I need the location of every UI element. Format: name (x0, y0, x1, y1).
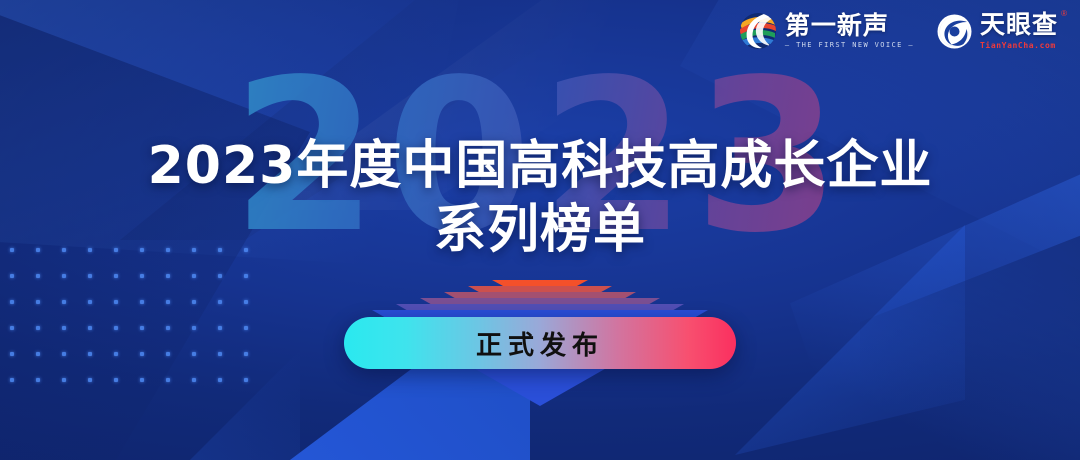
grid-dot (218, 326, 222, 330)
grid-dot (218, 378, 222, 382)
grid-dot (166, 378, 170, 382)
grid-dot (218, 274, 222, 278)
grid-dot (62, 274, 66, 278)
tianyancha-cn-wrap: 天眼查 ® (980, 12, 1058, 38)
grid-dot (218, 352, 222, 356)
logo-tianyancha[interactable]: 天眼查 ® TianYanCha.com (936, 12, 1058, 50)
grid-dot (140, 378, 144, 382)
grid-dot (140, 300, 144, 304)
release-button[interactable]: 正式发布 (344, 317, 736, 369)
grid-dot (10, 352, 14, 356)
grid-dot (114, 326, 118, 330)
grid-dot (114, 300, 118, 304)
grid-dot (114, 274, 118, 278)
grid-dot (62, 326, 66, 330)
first-new-voice-cn: 第一新声 (785, 13, 914, 38)
grid-dot (62, 378, 66, 382)
registered-trademark-icon: ® (1061, 10, 1067, 18)
grid-dot (10, 378, 14, 382)
page-title-line-2: 系列榜单 (0, 200, 1080, 260)
grid-dot (114, 352, 118, 356)
grid-dot (10, 326, 14, 330)
page-title: 2023年度中国高科技高成长企业 系列榜单 (0, 136, 1080, 261)
tianyancha-cn: 天眼查 (980, 10, 1058, 39)
grid-dot (88, 326, 92, 330)
grid-dot (36, 352, 40, 356)
grid-dot (166, 352, 170, 356)
tianyancha-lens-icon (936, 13, 973, 50)
grid-dot (88, 300, 92, 304)
grid-dot (140, 274, 144, 278)
grid-dot (166, 326, 170, 330)
grid-dot (36, 300, 40, 304)
grid-dot (244, 352, 248, 356)
grid-dot (192, 274, 196, 278)
grid-dot (140, 326, 144, 330)
page-title-line-1: 2023年度中国高科技高成长企业 (0, 136, 1080, 196)
grid-dot (244, 378, 248, 382)
grid-dot (62, 300, 66, 304)
first-new-voice-en: — THE FIRST NEW VOICE — (785, 42, 914, 49)
promo-banner: 2023 2023年度中国高科技高成长企业 系列榜单 正式发布 (0, 0, 1080, 460)
grid-dot (166, 300, 170, 304)
grid-dot (62, 352, 66, 356)
grid-dot (192, 352, 196, 356)
tianyancha-en: TianYanCha.com (980, 42, 1058, 50)
grid-dot (192, 300, 196, 304)
grid-dot (10, 300, 14, 304)
grid-dot (192, 326, 196, 330)
grid-dot (244, 326, 248, 330)
grid-dot (244, 300, 248, 304)
dot-grid-decoration (10, 248, 270, 404)
logo-first-new-voice[interactable]: 第一新声 — THE FIRST NEW VOICE — (738, 12, 914, 50)
grid-dot (36, 378, 40, 382)
grid-dot (88, 352, 92, 356)
grid-dot (140, 352, 144, 356)
grid-dot (10, 274, 14, 278)
grid-dot (166, 274, 170, 278)
grid-dot (192, 378, 196, 382)
grid-dot (114, 378, 118, 382)
grid-dot (218, 300, 222, 304)
grid-dot (88, 274, 92, 278)
logo-bar: 第一新声 — THE FIRST NEW VOICE — 天眼查 ® TianY… (738, 12, 1058, 50)
first-new-voice-swirl-icon (738, 12, 778, 50)
tianyancha-wordmark: 天眼查 ® TianYanCha.com (980, 12, 1058, 50)
grid-dot (36, 274, 40, 278)
first-new-voice-wordmark: 第一新声 — THE FIRST NEW VOICE — (785, 13, 914, 49)
grid-dot (88, 378, 92, 382)
grid-dot (36, 326, 40, 330)
